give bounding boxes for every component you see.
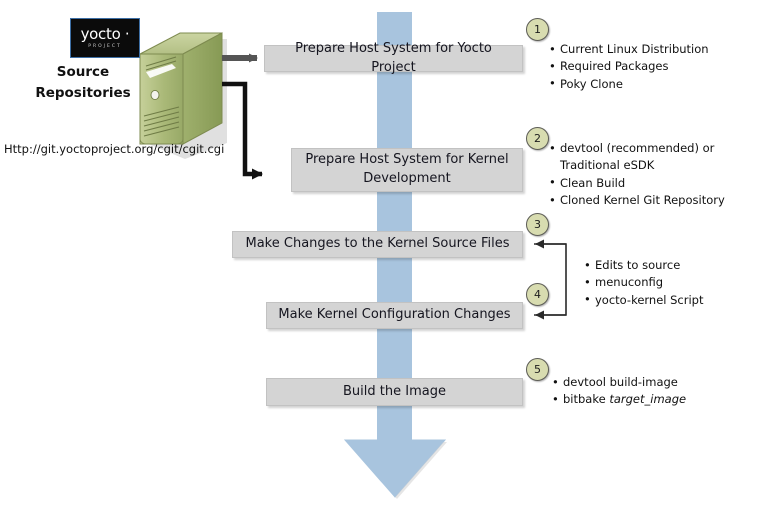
steps-3-4-shared-bullets: Edits to sourcemenuconfigyocto-kernel Sc… — [583, 257, 769, 309]
bullet-item: menuconfig — [583, 274, 769, 291]
step-number-3: 3 — [526, 213, 549, 236]
source-repositories-url: Http://git.yoctoproject.org/cgit/cgit.cg… — [4, 142, 224, 156]
step-1-bullets: Current Linux DistributionRequired Packa… — [548, 41, 766, 93]
step-5-bullet-list: devtool build-imagebitbake target_image — [551, 374, 769, 409]
server-tower-icon — [140, 33, 227, 159]
step-2-bullets: devtool (recommended) or Traditional eSD… — [548, 140, 766, 210]
step-number-1: 1 — [526, 18, 549, 41]
bullet-item: devtool (recommended) or Traditional eSD… — [548, 140, 766, 175]
bullet-item: Clean Build — [548, 175, 766, 192]
bullet-item: Cloned Kernel Git Repository — [548, 192, 766, 209]
step-1-bullet-list: Current Linux DistributionRequired Packa… — [548, 41, 766, 93]
diagram-canvas: yocto · PROJECT Source Repositories Http… — [0, 0, 769, 517]
step-box-1[interactable]: Prepare Host System for Yocto Project — [264, 45, 523, 72]
step-2-bullet-list: devtool (recommended) or Traditional eSD… — [548, 140, 766, 210]
step-5-bullets: devtool build-imagebitbake target_image — [551, 374, 769, 409]
bullet-item: yocto-kernel Script — [583, 292, 769, 309]
steps-3-4-bullet-list: Edits to sourcemenuconfigyocto-kernel Sc… — [583, 257, 769, 309]
bullet-item: devtool build-image — [551, 374, 769, 391]
step-box-2[interactable]: Prepare Host System for Kernel Developme… — [291, 148, 523, 192]
step-number-2: 2 — [526, 127, 549, 150]
step-number-4: 4 — [526, 283, 549, 306]
step-number-5: 5 — [526, 358, 549, 381]
step-box-5[interactable]: Build the Image — [266, 378, 523, 406]
bullet-item: Current Linux Distribution — [548, 41, 766, 58]
yocto-project-logo: yocto · PROJECT — [70, 18, 140, 58]
bullet-item: bitbake target_image — [551, 391, 769, 408]
logo-subtext: PROJECT — [88, 45, 121, 50]
step-box-4[interactable]: Make Kernel Configuration Changes — [266, 302, 523, 329]
arrow-server-to-step2 — [222, 84, 262, 174]
bullet-item: Poky Clone — [548, 76, 766, 93]
source-repositories-label: Source Repositories — [22, 62, 144, 104]
bullet-item: Required Packages — [548, 58, 766, 75]
bullet-item: Edits to source — [583, 257, 769, 274]
logo-wordmark: yocto · — [81, 27, 130, 42]
step-box-3[interactable]: Make Changes to the Kernel Source Files — [232, 231, 523, 258]
